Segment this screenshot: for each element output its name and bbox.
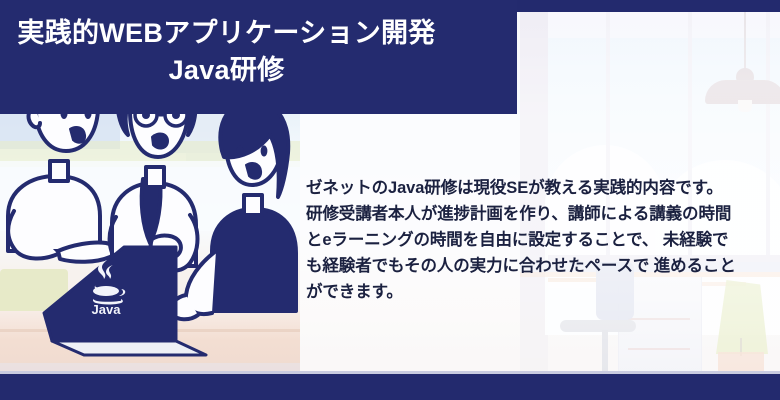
bottom-accent-strip: [0, 374, 780, 400]
description-line-1: ゼネットのJava研修は現役SEが教える実践的内容です。: [306, 176, 768, 202]
page-title-line-1: 実践的WEBアプリケーション開発: [0, 17, 517, 50]
banner-image: Java ゼネットのJava研修は現役SEが教える実践的内容です。 研修受講者本…: [0, 0, 780, 400]
person-right-eye-right: [261, 145, 268, 156]
java-wordmark: Java: [92, 302, 122, 317]
page-title-line-2: Java研修: [0, 54, 517, 87]
person-right-eye-left: [237, 145, 244, 156]
person-left-mouth: [70, 127, 85, 143]
laptop-base: [52, 341, 206, 355]
person-left-neck: [50, 161, 68, 181]
person-right-body: [212, 209, 296, 311]
description-line-4: も経験者でもその人の実力に合わせたペースで 進めること: [306, 254, 768, 280]
description-line-2: 研修受講者本人が進捗計画を作り、講師による講義の時間: [306, 202, 768, 228]
description-text: ゼネットのJava研修は現役SEが教える実践的内容です。 研修受講者本人が進捗計…: [306, 176, 768, 305]
person-center-mouth: [152, 134, 168, 149]
description-line-3: とeラーニングの時間を自由に設定することで、 未経験で: [306, 228, 768, 254]
description-line-5: ができます。: [306, 280, 768, 306]
person-center-neck: [146, 167, 164, 187]
title-banner: 実践的WEBアプリケーション開発 Java研修: [0, 0, 517, 114]
person-right-mouth: [246, 163, 261, 179]
person-right-neck: [244, 195, 262, 215]
